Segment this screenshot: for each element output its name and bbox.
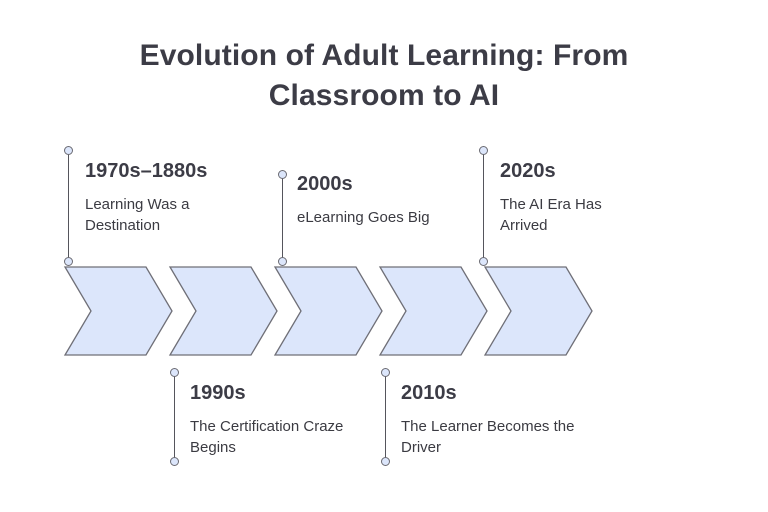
- milestone-year: 2020s: [500, 159, 640, 183]
- connector-stem: [282, 175, 283, 261]
- chevron-step-4[interactable]: [380, 267, 487, 355]
- chevron-step-1[interactable]: [65, 267, 172, 355]
- chevron-step-5[interactable]: [485, 267, 592, 355]
- connector-dot-bottom: [278, 257, 287, 266]
- slide-canvas: Evolution of Adult Learning: From Classr…: [0, 0, 768, 512]
- connector-dot-top: [278, 170, 287, 179]
- milestone-3[interactable]: 2000s eLearning Goes Big: [297, 172, 472, 228]
- page-title: Evolution of Adult Learning: From Classr…: [64, 36, 704, 115]
- connector-dot-bottom: [64, 257, 73, 266]
- connector-2: [170, 368, 179, 466]
- milestone-5[interactable]: 2020s The AI Era Has Arrived: [500, 159, 640, 237]
- connector-3: [278, 170, 287, 266]
- connector-dot-top: [170, 368, 179, 377]
- milestone-year: 2010s: [401, 381, 576, 405]
- milestone-4[interactable]: 2010s The Learner Becomes the Driver: [401, 381, 576, 459]
- connector-dot-bottom: [479, 257, 488, 266]
- connector-4: [381, 368, 390, 466]
- connector-1: [64, 146, 73, 266]
- milestone-year: 1990s: [190, 381, 350, 405]
- milestone-description: eLearning Goes Big: [297, 207, 472, 228]
- chevron-step-3[interactable]: [275, 267, 382, 355]
- connector-dot-top: [381, 368, 390, 377]
- milestone-year: 1970s–1880s: [85, 159, 265, 183]
- connector-dot-top: [64, 146, 73, 155]
- milestone-description: The Learner Becomes the Driver: [401, 416, 576, 459]
- milestone-description: The AI Era Has Arrived: [500, 194, 640, 237]
- connector-stem: [483, 151, 484, 261]
- connector-stem: [174, 373, 175, 461]
- connector-5: [479, 146, 488, 266]
- milestone-2[interactable]: 1990s The Certification Craze Begins: [190, 381, 350, 459]
- connector-dot-bottom: [170, 457, 179, 466]
- chevron-step-2[interactable]: [170, 267, 277, 355]
- milestone-1[interactable]: 1970s–1880s Learning Was a Destination: [85, 159, 265, 237]
- connector-stem: [68, 151, 69, 261]
- milestone-description: Learning Was a Destination: [85, 194, 265, 237]
- connector-stem: [385, 373, 386, 461]
- connector-dot-top: [479, 146, 488, 155]
- connector-dot-bottom: [381, 457, 390, 466]
- milestone-description: The Certification Craze Begins: [190, 416, 350, 459]
- milestone-year: 2000s: [297, 172, 472, 196]
